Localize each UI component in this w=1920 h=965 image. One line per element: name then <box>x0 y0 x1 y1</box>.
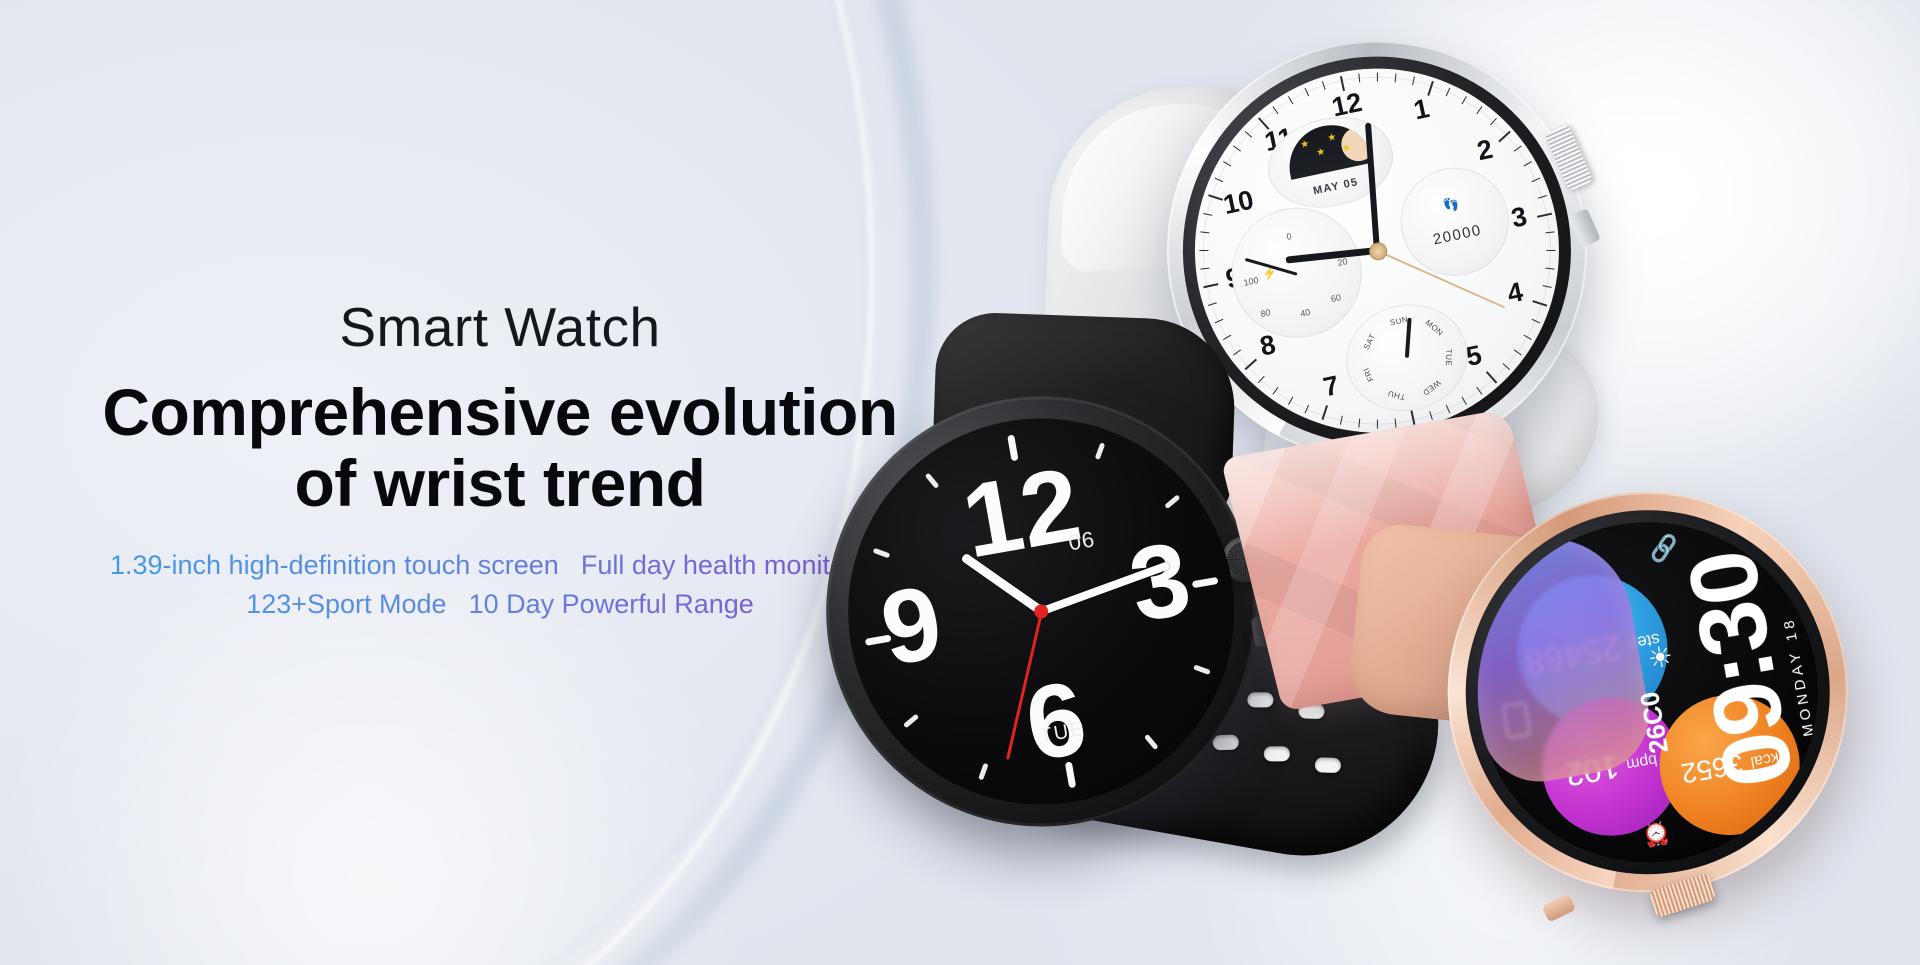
silver-hour-numeral: 2 <box>1468 132 1502 168</box>
silver-watch-button[interactable] <box>1569 208 1601 247</box>
dial-tick <box>1272 106 1278 114</box>
black-date-display: 06 <box>1067 526 1098 556</box>
star-icon: ★ <box>1315 147 1326 159</box>
black-dial-index <box>924 473 939 489</box>
black-dial-index <box>872 548 890 559</box>
dial-tick <box>1377 420 1378 429</box>
footsteps-icon: 👣 <box>1398 186 1505 224</box>
dial-tick <box>1412 76 1415 85</box>
dial-tick <box>1461 397 1466 405</box>
weekday-mark: FRI <box>1360 364 1377 386</box>
eyebrow-text: Smart Watch <box>0 300 1000 355</box>
dial-tick <box>1538 195 1547 199</box>
dial-tick <box>1446 88 1451 97</box>
steps-subdial-value: 20000 <box>1404 216 1511 255</box>
dial-tick <box>1233 145 1241 151</box>
dial-tick <box>1200 231 1209 233</box>
dial-tick <box>1476 106 1482 114</box>
dial-tick <box>1537 213 1552 218</box>
black-dial-index <box>1143 734 1158 750</box>
strap-perforation <box>1315 757 1342 773</box>
weekday-mark: THU <box>1385 389 1407 402</box>
sun-icon: ☀ <box>1645 638 1675 675</box>
silver-hour-numeral: 10 <box>1221 185 1255 221</box>
feature-separator-2: | <box>454 589 461 619</box>
dial-tick <box>1429 411 1433 420</box>
dial-tick <box>1377 73 1378 82</box>
dial-tick <box>1532 178 1541 183</box>
black-watch-screen[interactable]: 12 3 6 9 06 TUE <box>818 388 1265 835</box>
dial-tick <box>1532 300 1547 306</box>
star-icon: ★ <box>1327 133 1338 145</box>
dial-tick <box>1503 363 1510 370</box>
dial-tick <box>1358 73 1360 82</box>
power-mark-100: 100 <box>1243 275 1260 288</box>
star-icon: ★ <box>1300 139 1311 151</box>
product-stage: 123456789101112 ★ ★ ★ ★ MAY 05 👣 <box>900 0 1920 965</box>
black-dial-index <box>1193 665 1211 676</box>
background-glow-bottom-left <box>0 565 820 965</box>
rose-gold-case: 🔗 ⏰ step 25468 bpm 102 <box>1416 461 1879 924</box>
product-banner: Smart Watch Comprehensive evolution of w… <box>0 0 1920 965</box>
dial-tick <box>1446 405 1451 414</box>
dial-tick <box>1322 81 1326 90</box>
dial-tick <box>1545 268 1554 270</box>
rose-gold-button[interactable] <box>1541 893 1576 922</box>
black-dial-index <box>978 763 989 781</box>
feature-separator: | <box>566 550 573 580</box>
dial-tick <box>1203 213 1212 216</box>
dial-tick <box>1461 96 1466 104</box>
dial-tick <box>1524 335 1532 340</box>
dial-tick <box>1200 268 1209 270</box>
feature-battery-range: 10 Day Powerful Range <box>469 589 754 619</box>
black-dial-index <box>1094 442 1105 460</box>
weekday-mark: WED <box>1421 378 1442 397</box>
dial-tick <box>1395 419 1397 428</box>
dial-tick <box>1305 88 1310 97</box>
feature-screen-size: 1.39-inch high-definition touch screen <box>110 550 559 580</box>
black-dial-index <box>902 714 918 729</box>
rose-gold-crown[interactable] <box>1649 872 1717 918</box>
star-icon: ★ <box>1341 143 1352 155</box>
dial-tick <box>1395 73 1397 82</box>
dial-tick <box>1524 161 1532 166</box>
dial-tick <box>1411 410 1416 425</box>
dial-tick <box>1532 319 1541 324</box>
rose-gold-watch: 🔗 ⏰ step 25468 bpm 102 <box>1383 434 1918 965</box>
dial-tick <box>1545 231 1554 233</box>
dial-tick <box>1514 145 1522 151</box>
dial-tick <box>1476 387 1482 395</box>
power-mark-0: 0 <box>1286 231 1293 242</box>
rose-gold-screen[interactable]: 🔗 ⏰ step 25468 bpm 102 <box>1451 495 1845 889</box>
weekday-mark: TUE <box>1444 348 1453 368</box>
bluetooth-icon: 🔗 <box>1647 531 1681 565</box>
black-dial-index <box>1164 494 1180 509</box>
dial-tick <box>1288 96 1293 104</box>
dial-tick <box>1514 349 1522 355</box>
day-number: 18 <box>1780 615 1801 642</box>
dial-tick <box>1543 285 1552 288</box>
weekday-mark: MON <box>1424 318 1445 338</box>
dial-tick <box>1546 250 1555 251</box>
weekday-mark: SAT <box>1361 331 1378 353</box>
black-dial-index <box>1191 577 1218 588</box>
strap-perforation <box>1264 746 1290 761</box>
dial-tick <box>1490 118 1497 125</box>
dial-tick <box>1203 284 1218 289</box>
dial-tick <box>1215 178 1224 183</box>
dial-tick <box>1199 250 1208 251</box>
dial-tick <box>1223 161 1231 166</box>
dial-tick <box>1486 371 1497 383</box>
dial-tick <box>1498 131 1510 142</box>
feature-sport-mode: 123+Sport Mode <box>246 589 446 619</box>
dial-tick <box>1245 131 1252 138</box>
